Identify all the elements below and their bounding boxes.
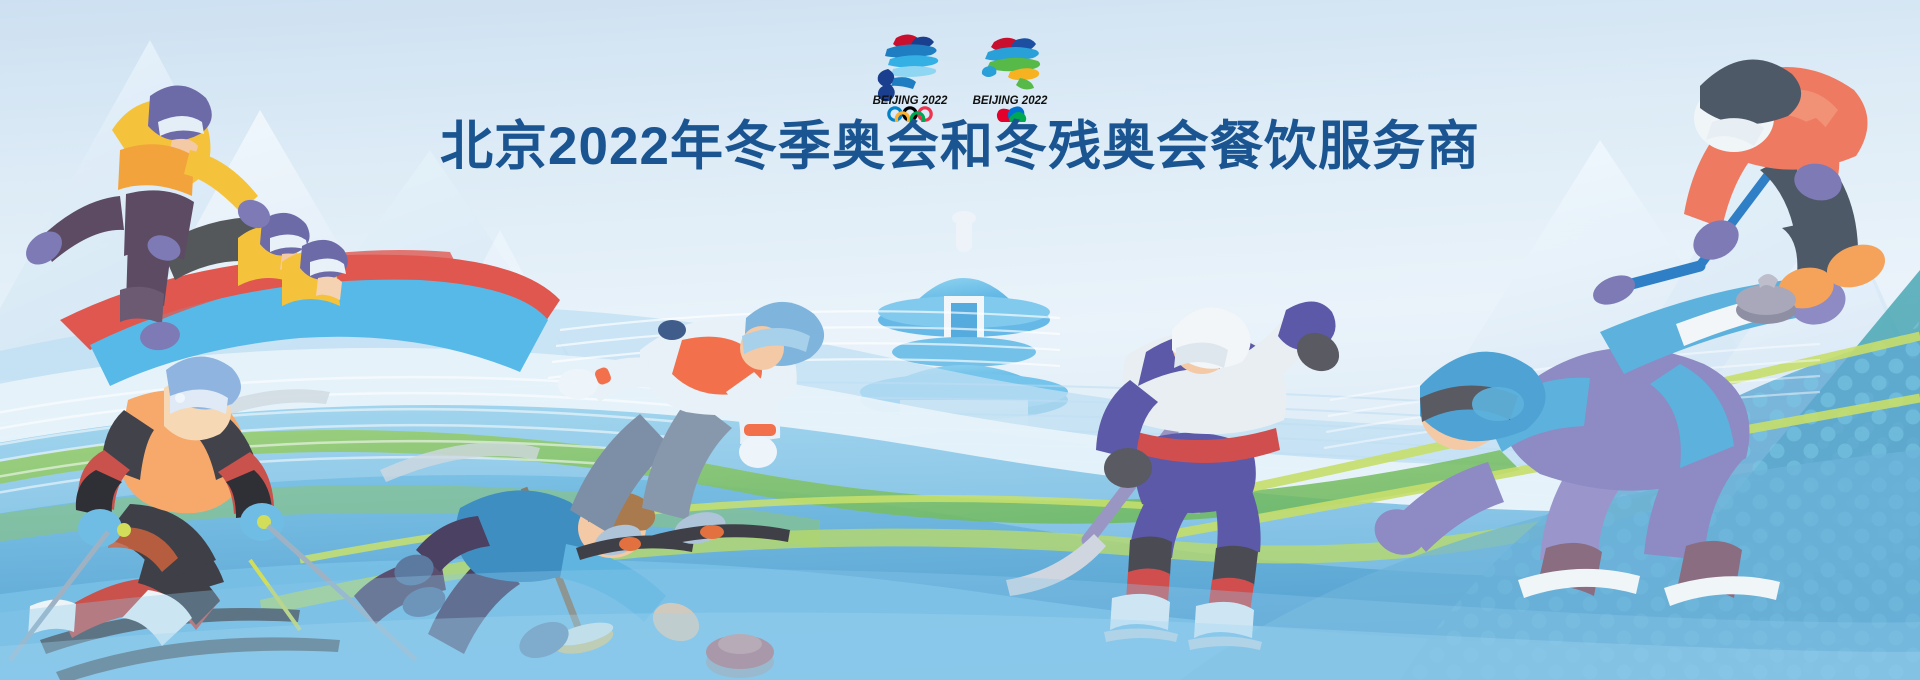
beijing-2022-olympic-logo: BEIJING 2022	[860, 22, 960, 122]
olympic-wordmark: BEIJING 2022	[873, 95, 948, 107]
olympic-emblem-mark	[878, 35, 939, 102]
beijing-2022-paralympic-logo: BEIJING 2022	[960, 22, 1060, 122]
paralympic-emblem-mark	[982, 38, 1040, 90]
beijing-2022-banner: BEIJING 2022	[0, 0, 1920, 680]
paralympic-wordmark: BEIJING 2022	[973, 95, 1048, 107]
agitos-icon	[997, 106, 1026, 122]
emblem-group: BEIJING 2022	[860, 22, 1060, 122]
olympic-rings-icon	[889, 108, 931, 122]
